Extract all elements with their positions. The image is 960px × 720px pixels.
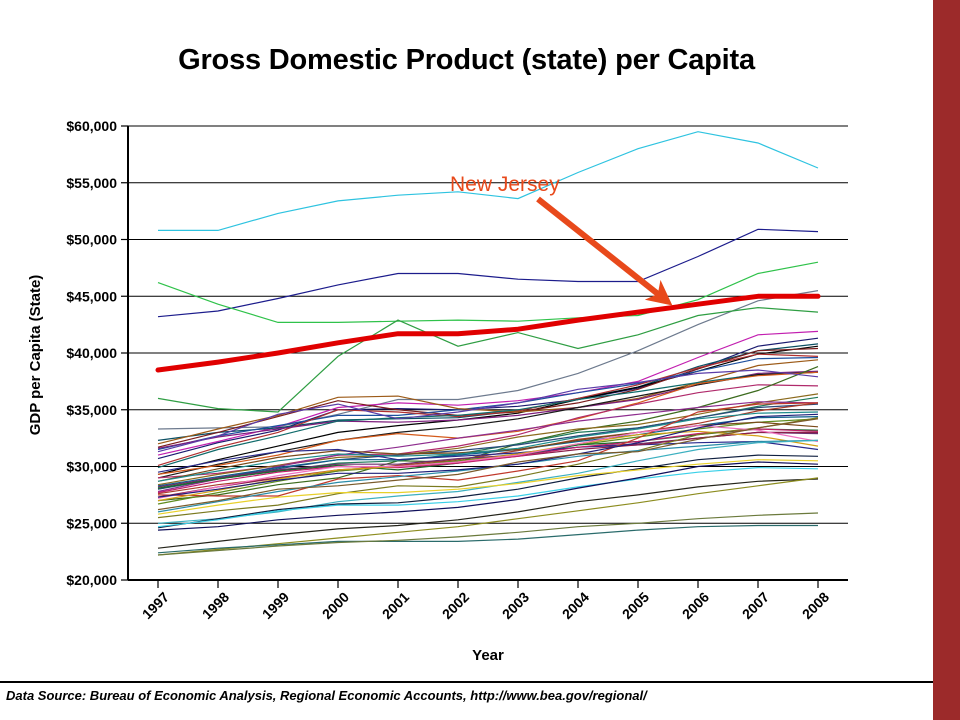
- footer-divider: [0, 681, 933, 683]
- x-tick-label: 2002: [439, 589, 472, 622]
- line-chart-svg: $20,000$25,000$30,000$35,000$40,000$45,0…: [0, 0, 933, 700]
- x-tick-label: 2000: [319, 589, 352, 622]
- x-tick-label: 2007: [739, 589, 772, 622]
- x-tick-label: 2008: [799, 589, 832, 622]
- new-jersey-arrow: [538, 199, 663, 298]
- x-tick-label: 1999: [259, 589, 292, 622]
- x-axis-ticks-group: 1997199819992000200120022003200420052006…: [139, 580, 832, 622]
- x-axis-title: Year: [472, 647, 504, 664]
- y-tick-label: $55,000: [66, 175, 117, 191]
- x-tick-label: 2001: [379, 589, 412, 622]
- new-jersey-annotation-label: New Jersey: [450, 173, 560, 196]
- y-tick-label: $60,000: [66, 118, 117, 134]
- right-accent-sidebar: Bruce D. Baker, 2010: [933, 0, 960, 720]
- series-line: [158, 262, 818, 322]
- x-tick-label: 2003: [499, 589, 532, 622]
- series-line: [158, 513, 818, 555]
- x-tick-label: 1998: [199, 589, 232, 622]
- data-source-note: Data Source: Bureau of Economic Analysis…: [6, 688, 647, 703]
- series-line: [158, 308, 818, 412]
- y-tick-label: $40,000: [66, 345, 117, 361]
- y-tick-label: $20,000: [66, 572, 117, 588]
- series-line-highlighted: [158, 296, 818, 370]
- series-line: [158, 526, 818, 553]
- y-tick-label: $30,000: [66, 459, 117, 475]
- x-tick-label: 1997: [139, 589, 172, 622]
- slide-canvas: Gross Domestic Product (state) per Capit…: [0, 0, 960, 720]
- x-tick-label: 2004: [559, 589, 592, 622]
- y-axis-ticks-group: $20,000$25,000$30,000$35,000$40,000$45,0…: [66, 118, 128, 588]
- y-tick-label: $50,000: [66, 232, 117, 248]
- annotation-group: New Jersey: [450, 173, 663, 298]
- y-tick-label: $45,000: [66, 288, 117, 304]
- x-tick-label: 2006: [679, 589, 712, 622]
- chart-plot-area: $20,000$25,000$30,000$35,000$40,000$45,0…: [0, 0, 933, 700]
- x-tick-label: 2005: [619, 589, 652, 622]
- y-tick-label: $25,000: [66, 515, 117, 531]
- y-axis-title: GDP per Capita (State): [27, 275, 44, 436]
- y-tick-label: $35,000: [66, 402, 117, 418]
